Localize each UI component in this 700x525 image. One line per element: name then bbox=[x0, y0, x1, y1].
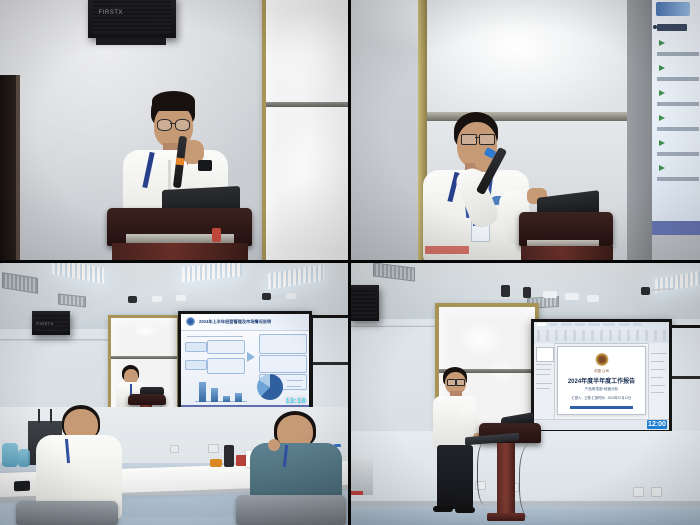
slide-section-rule bbox=[187, 336, 243, 337]
attendee-right-hand bbox=[268, 439, 280, 451]
slide-timestamp: 13:18 bbox=[286, 398, 306, 405]
phone-on-desk bbox=[14, 481, 30, 492]
polo-placket bbox=[168, 160, 171, 190]
photo-collage: FIRSTX bbox=[0, 0, 700, 525]
slide-header-title: 2024年上半年经营管理及市场情况说明 bbox=[199, 317, 303, 326]
slide-bullet-text-3 bbox=[657, 102, 699, 106]
ppt-ribbon-icons[interactable] bbox=[537, 330, 667, 341]
bar-2 bbox=[211, 388, 218, 402]
attendee-right-chair bbox=[236, 495, 346, 525]
track-spotlight-3 bbox=[176, 295, 186, 301]
ppt-tab-row[interactable] bbox=[534, 322, 669, 328]
ppt-tab-home[interactable] bbox=[549, 323, 558, 327]
slide-bullet-arrow-3 bbox=[659, 90, 665, 96]
presenter-shoe-left bbox=[433, 506, 453, 512]
ppt-task-line-4 bbox=[651, 377, 663, 378]
presenter-trousers bbox=[437, 445, 473, 509]
left-cabinet-edge bbox=[16, 75, 20, 260]
ppt-task-pane[interactable] bbox=[648, 343, 669, 421]
slide-bullet-text-5 bbox=[657, 152, 699, 156]
wall-speaker bbox=[351, 285, 379, 321]
track-spotlight-2 bbox=[523, 287, 531, 298]
slide-flow-label-2 bbox=[185, 360, 207, 370]
slide-org-line: 中国·公司 bbox=[558, 368, 645, 373]
slide-bullet-dot bbox=[653, 25, 657, 29]
ppt-task-line-2 bbox=[651, 361, 664, 362]
track-spotlight-1 bbox=[128, 296, 137, 303]
projection-screen-secondary bbox=[310, 315, 348, 411]
slide-main-title: 2024年度半年度工作报告 bbox=[558, 376, 645, 385]
left-dark-cabinet bbox=[0, 75, 16, 260]
wall-speaker: FIRSTX bbox=[32, 311, 70, 335]
ppt-outline-line-3 bbox=[536, 374, 550, 375]
desk-modesty-panel bbox=[114, 495, 244, 517]
slide-logo bbox=[186, 317, 195, 326]
water-jug-2 bbox=[18, 449, 30, 467]
pie-legend-line-2 bbox=[287, 386, 301, 387]
slide-footer-band bbox=[652, 221, 700, 235]
wall-speaker: FIRSTX bbox=[88, 0, 176, 38]
eyeglasses-left-lens bbox=[157, 119, 172, 131]
photo-pane-bottom-right[interactable]: 中国·公司 2024年度半年度工作报告 产品研发部·经营分析 汇报人：王刚 汇报… bbox=[351, 263, 700, 525]
speaker-bracket bbox=[96, 38, 166, 45]
eyeglasses-left-lens bbox=[461, 134, 477, 145]
secondary-screen-rail bbox=[313, 362, 348, 365]
ppt-slide-thumbnail[interactable] bbox=[536, 347, 553, 361]
slide-text-block-2 bbox=[259, 355, 307, 373]
podium-stem bbox=[497, 443, 515, 517]
track-spotlight-4 bbox=[565, 293, 579, 300]
wall-socket-1 bbox=[170, 445, 179, 453]
slide-bullet-text-1 bbox=[657, 52, 699, 56]
rack-antenna-2 bbox=[50, 409, 52, 423]
track-spotlight-4 bbox=[262, 293, 271, 300]
track-spotlight-1 bbox=[501, 285, 510, 297]
ppt-tab-file[interactable] bbox=[537, 323, 546, 327]
ppt-ribbon[interactable] bbox=[534, 322, 669, 344]
track-spotlight-2 bbox=[152, 296, 162, 302]
desk-object-orange bbox=[210, 459, 222, 467]
projected-slide: 2024年上半年经营管理及市场情况说明 bbox=[181, 314, 309, 412]
smartwatch bbox=[198, 160, 212, 171]
ppt-tab-animations[interactable] bbox=[603, 323, 615, 327]
eyeglasses-right-lens bbox=[479, 134, 495, 145]
slide-flow-arrow bbox=[247, 352, 255, 362]
slide-bullet-arrow-5 bbox=[659, 140, 665, 146]
slide-flow-box-2 bbox=[207, 358, 245, 374]
speaker-grille bbox=[93, 0, 170, 35]
track-spotlight-6 bbox=[641, 287, 650, 295]
whiteboard-pen-rail bbox=[266, 102, 348, 107]
ppt-outline-line-2 bbox=[536, 369, 551, 370]
eyeglasses-bridge bbox=[170, 123, 175, 124]
ppt-tab-view[interactable] bbox=[633, 323, 642, 327]
bar-4 bbox=[235, 393, 242, 402]
photo-pane-bottom-left[interactable]: FIRSTX 2024年上半年经营管理及市场情况说明 bbox=[0, 263, 348, 525]
speaker-grille bbox=[351, 288, 377, 318]
ppt-task-line-5 bbox=[651, 385, 665, 386]
slide-bullet-text-4 bbox=[657, 127, 699, 131]
speaker-brand-label: FIRSTX bbox=[37, 321, 54, 326]
podium-body bbox=[521, 246, 613, 260]
projection-screen-main: 2024年上半年经营管理及市场情况说明 bbox=[178, 311, 312, 415]
equipment-cart bbox=[351, 459, 373, 495]
whiteboard-upper-panel bbox=[427, 0, 627, 116]
collage-seam-horizontal bbox=[0, 260, 700, 263]
wall-socket-2 bbox=[208, 444, 219, 453]
ppt-outline-line-4 bbox=[536, 383, 552, 384]
slide-bullet-arrow-6 bbox=[659, 165, 665, 171]
track-spotlight-5 bbox=[286, 293, 296, 299]
whiteboard-glare bbox=[270, 4, 348, 100]
bar-1 bbox=[199, 382, 206, 402]
podium-cable-2 bbox=[519, 443, 548, 519]
whiteboard-pen-rail bbox=[111, 356, 177, 359]
slide-meta-line: 汇报人：王刚 汇报时间：2024年07月12日 bbox=[558, 395, 645, 400]
bar-3 bbox=[223, 396, 230, 402]
photo-pane-top-left[interactable]: FIRSTX bbox=[0, 0, 348, 260]
ppt-outline-line-1 bbox=[536, 364, 552, 365]
eyeglasses-right-lens bbox=[175, 119, 190, 131]
slide-flow-label-1 bbox=[185, 342, 207, 352]
rack-antenna-1 bbox=[38, 409, 40, 423]
slide-logo-corner bbox=[656, 2, 690, 16]
ppt-slide-canvas[interactable]: 中国·公司 2024年度半年度工作报告 产品研发部·经营分析 汇报人：王刚 汇报… bbox=[557, 346, 646, 415]
podium-base bbox=[487, 513, 525, 521]
pie-chart bbox=[257, 374, 283, 400]
track-spotlight-5 bbox=[587, 295, 599, 302]
presenter-hair-top bbox=[152, 91, 195, 111]
pie-legend-line-1 bbox=[287, 380, 303, 381]
podium-body bbox=[112, 243, 248, 260]
whiteboard-glare bbox=[133, 324, 159, 338]
whiteboard-glare bbox=[457, 321, 505, 357]
ppt-task-line-3 bbox=[651, 369, 665, 370]
ppt-tab-insert[interactable] bbox=[561, 323, 572, 327]
podium-papers bbox=[425, 246, 469, 254]
eyeglasses-bridge bbox=[475, 137, 479, 138]
water-jug-1 bbox=[2, 443, 18, 467]
photo-pane-top-right[interactable] bbox=[351, 0, 700, 260]
slide-bullet-text-2 bbox=[657, 77, 699, 81]
wall-socket-4 bbox=[651, 487, 662, 497]
secondary-screen-rail bbox=[672, 376, 700, 379]
speaker-brand-label: FIRSTX bbox=[99, 10, 123, 16]
podium-cable-1 bbox=[477, 441, 496, 505]
slide-flow-box-1 bbox=[207, 340, 245, 354]
tumbler bbox=[224, 445, 234, 467]
eyeglasses-left-lens bbox=[447, 379, 456, 386]
whiteboard-glare-lower bbox=[272, 118, 348, 228]
ppt-tab-design[interactable] bbox=[575, 323, 586, 327]
podium-side-accent bbox=[212, 228, 221, 242]
slide-accent-bar bbox=[570, 406, 633, 409]
podium-top bbox=[128, 394, 166, 405]
slide-logo bbox=[595, 353, 608, 366]
slide-bullet-arrow-2 bbox=[659, 65, 665, 71]
ppt-tab-transitions[interactable] bbox=[588, 323, 600, 327]
slide-bullet-heading bbox=[657, 24, 687, 31]
slide-bullet-arrow-1 bbox=[659, 40, 665, 46]
eyeglasses-right-lens bbox=[456, 379, 465, 386]
projection-screen-main: 中国·公司 2024年度半年度工作报告 产品研发部·经营分析 汇报人：王刚 汇报… bbox=[531, 319, 672, 433]
track-spotlight-3 bbox=[543, 291, 557, 298]
ppt-slide-thumbnail-pane[interactable] bbox=[534, 343, 555, 421]
wall-socket-3 bbox=[633, 487, 644, 497]
ppt-task-line-6 bbox=[651, 392, 664, 393]
status-time-badge: 12:00 bbox=[647, 420, 667, 429]
slide-subtitle: 产品研发部·经营分析 bbox=[558, 387, 645, 392]
bar-chart bbox=[189, 376, 247, 402]
ppt-outline-line-5 bbox=[536, 388, 550, 389]
ppt-task-line-1 bbox=[651, 353, 666, 354]
slide-bullet-arrow-4 bbox=[659, 115, 665, 121]
microphone-orange-band bbox=[176, 158, 185, 166]
projection-screen-secondary bbox=[669, 325, 700, 437]
slide-text-block-1 bbox=[259, 334, 307, 354]
ppt-tab-slideshow[interactable] bbox=[618, 323, 630, 327]
powerpoint-window[interactable]: 中国·公司 2024年度半年度工作报告 产品研发部·经营分析 汇报人：王刚 汇报… bbox=[534, 322, 669, 430]
cart-red-marker bbox=[351, 491, 363, 495]
whiteboard bbox=[262, 0, 348, 260]
presenter-shoe-right bbox=[455, 507, 475, 513]
projection-screen-shadow bbox=[627, 0, 652, 260]
slide-bullet-text-6 bbox=[657, 177, 699, 181]
attendee-left-chair bbox=[16, 501, 118, 525]
